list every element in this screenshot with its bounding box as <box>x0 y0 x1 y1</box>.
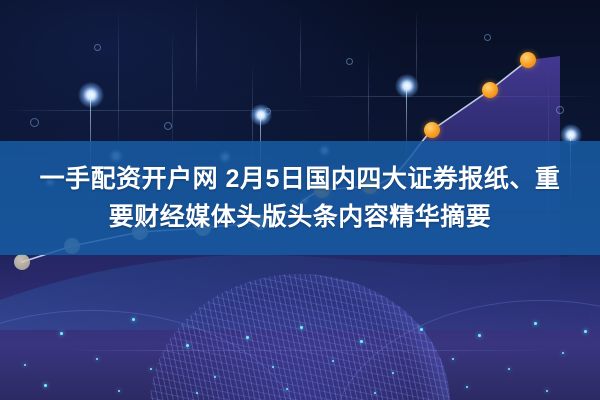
wireframe-globe <box>0 240 600 400</box>
headline-line-1: 一手配资开户网 2月5日国内四大证券报纸、重 <box>40 160 561 198</box>
chart-point <box>424 122 440 138</box>
headline-line-2: 要财经媒体头版头条内容精华摘要 <box>109 198 492 236</box>
banner-image: 一手配资开户网 2月5日国内四大证券报纸、重 要财经媒体头版头条内容精华摘要 <box>0 0 600 400</box>
chart-point <box>520 52 536 68</box>
chart-point <box>482 82 498 98</box>
headline-band: 一手配资开户网 2月5日国内四大证券报纸、重 要财经媒体头版头条内容精华摘要 <box>0 141 600 255</box>
